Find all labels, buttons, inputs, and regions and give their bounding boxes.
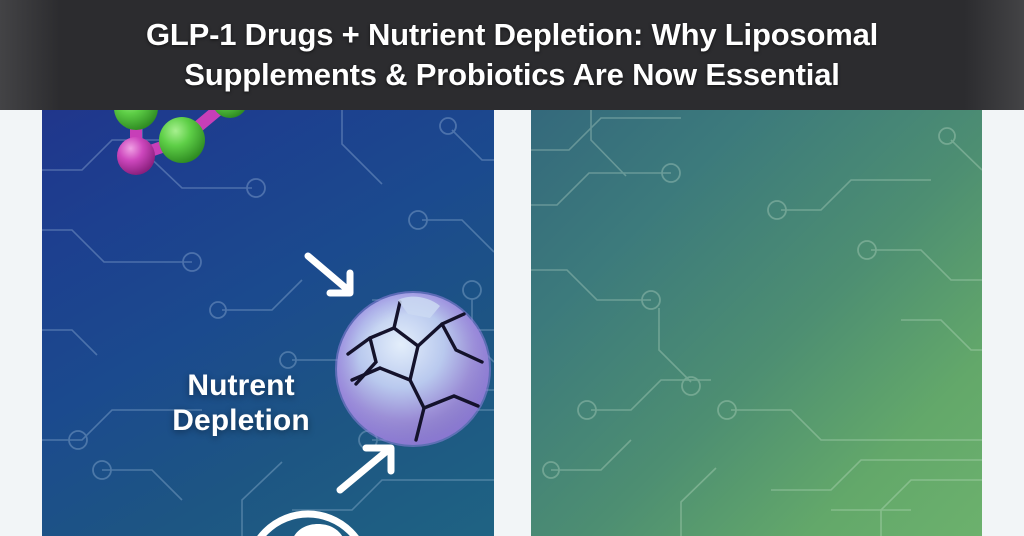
- problem-panel: Nutrent Depletion: [42, 110, 494, 536]
- overlay-edge-right: [964, 0, 1024, 110]
- infographic-canvas: Nutrent Depletion: [0, 0, 1024, 536]
- label-nutrient-depletion: Nutrent Depletion: [126, 368, 356, 439]
- page-title: GLP-1 Drugs + Nutrient Depletion: Why Li…: [62, 15, 962, 94]
- arrow-up-right-icon: [334, 440, 404, 498]
- overlay-edge-left: [0, 0, 60, 110]
- title-line-1: GLP-1 Drugs + Nutrient Depletion: Why Li…: [62, 15, 962, 55]
- cracked-cell-icon: [332, 288, 494, 450]
- title-overlay: GLP-1 Drugs + Nutrient Depletion: Why Li…: [0, 0, 1024, 110]
- title-line-2: Supplements & Probiotics Are Now Essenti…: [62, 55, 962, 95]
- circuit-pattern-right: [531, 110, 982, 536]
- depletion-line-2: Depletion: [172, 404, 310, 437]
- molecule-icon: [42, 110, 260, 214]
- question-mark-icon: [238, 502, 388, 536]
- solution-panel: Liposmal Supplements Probiotics Essentia…: [531, 110, 982, 536]
- depletion-line-1: Nutrent: [187, 369, 294, 402]
